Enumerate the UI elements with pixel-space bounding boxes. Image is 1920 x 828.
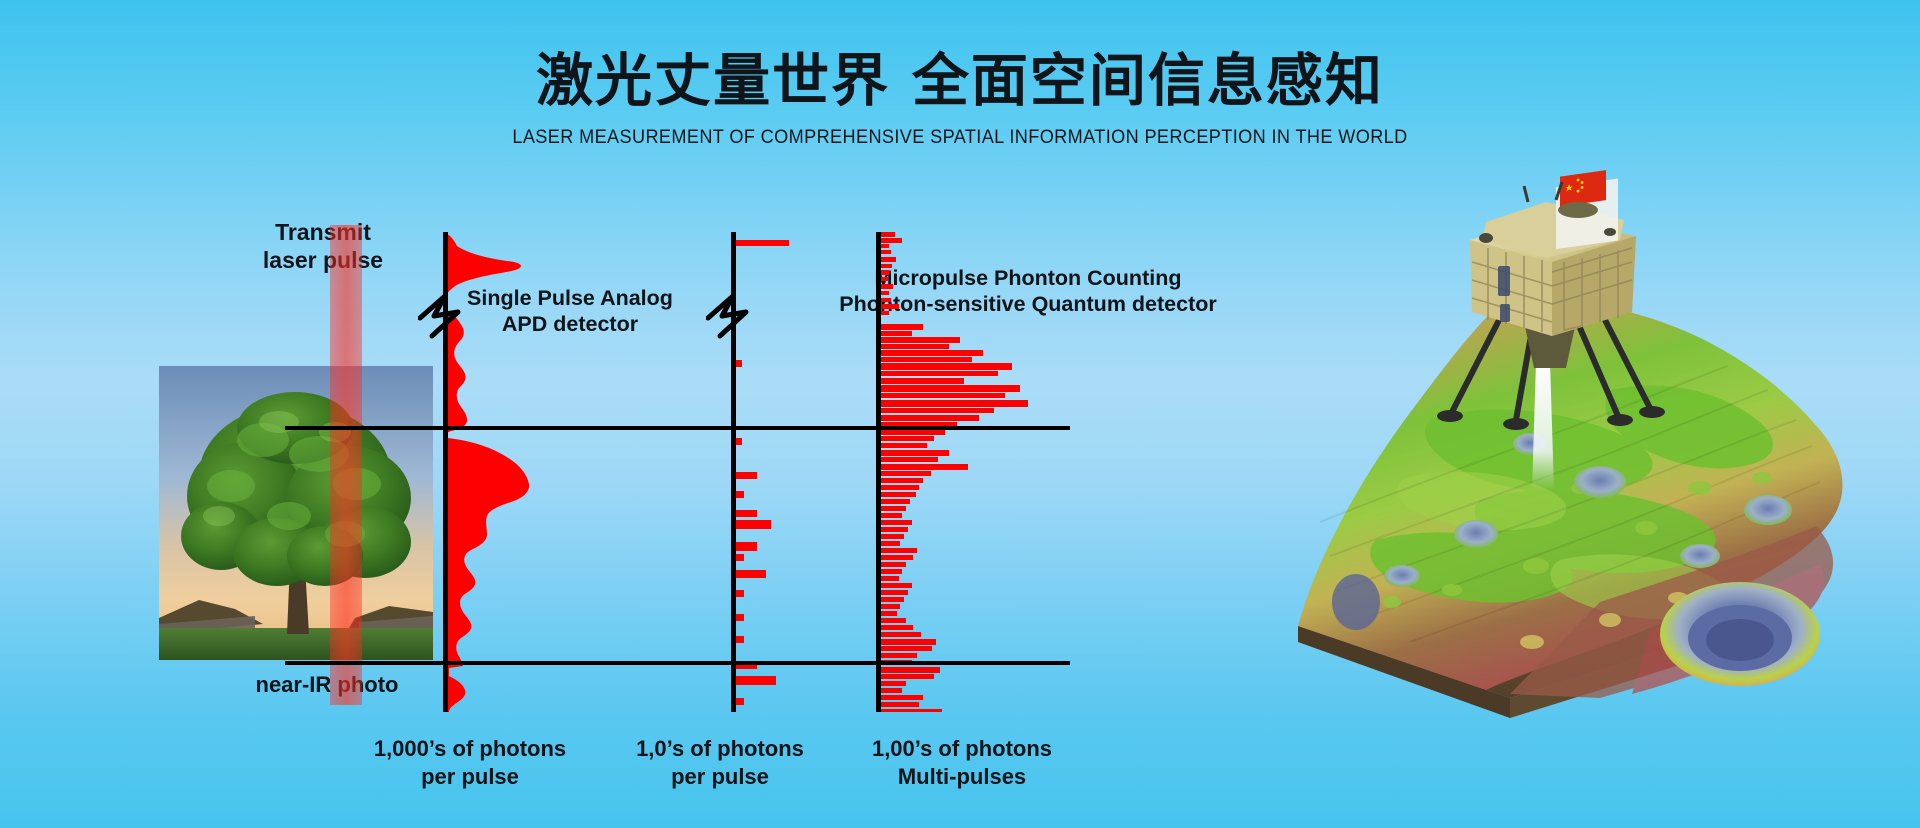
near-ir-photo [159,366,433,660]
caption-sparse: 1,0’s of photons per pulse [610,735,830,790]
label-transmit-line2: laser pulse [228,246,418,274]
caption-sparse-line2: per pulse [610,763,830,791]
canopy-reference-line [285,426,1070,430]
terrain-surface [1298,301,1843,698]
caption-analog-line2: per pulse [350,763,590,791]
caption-multipulse: 1,00’s of photons Multi-pulses [852,735,1072,790]
caption-analog: 1,000’s of photons per pulse [350,735,590,790]
caption-multipulse-line2: Multi-pulses [852,763,1072,791]
axis-break-icon-1 [418,288,474,344]
terrain-lander-illustration [1180,90,1920,790]
label-transmit-line1: Transmit [228,218,418,246]
label-transmit-laser-pulse: Transmit laser pulse [228,218,418,274]
laser-beam-icon [330,225,362,705]
ground-reference-line [285,661,1070,665]
caption-multipulse-line1: 1,00’s of photons [852,735,1072,763]
lidar-waveform-diagram: Transmit laser pulse Single Pulse Analog… [0,0,1180,828]
label-near-ir-photo: near-IR photo [212,672,442,699]
multipulse-histogram-chart [878,232,1088,712]
axis-break-icon-2 [706,288,762,344]
multipulse-histogram-bars [878,232,1028,712]
caption-analog-line1: 1,000’s of photons [350,735,590,763]
axis-multipulse [876,232,881,712]
caption-sparse-line1: 1,0’s of photons [610,735,830,763]
crater-large [1660,582,1820,686]
